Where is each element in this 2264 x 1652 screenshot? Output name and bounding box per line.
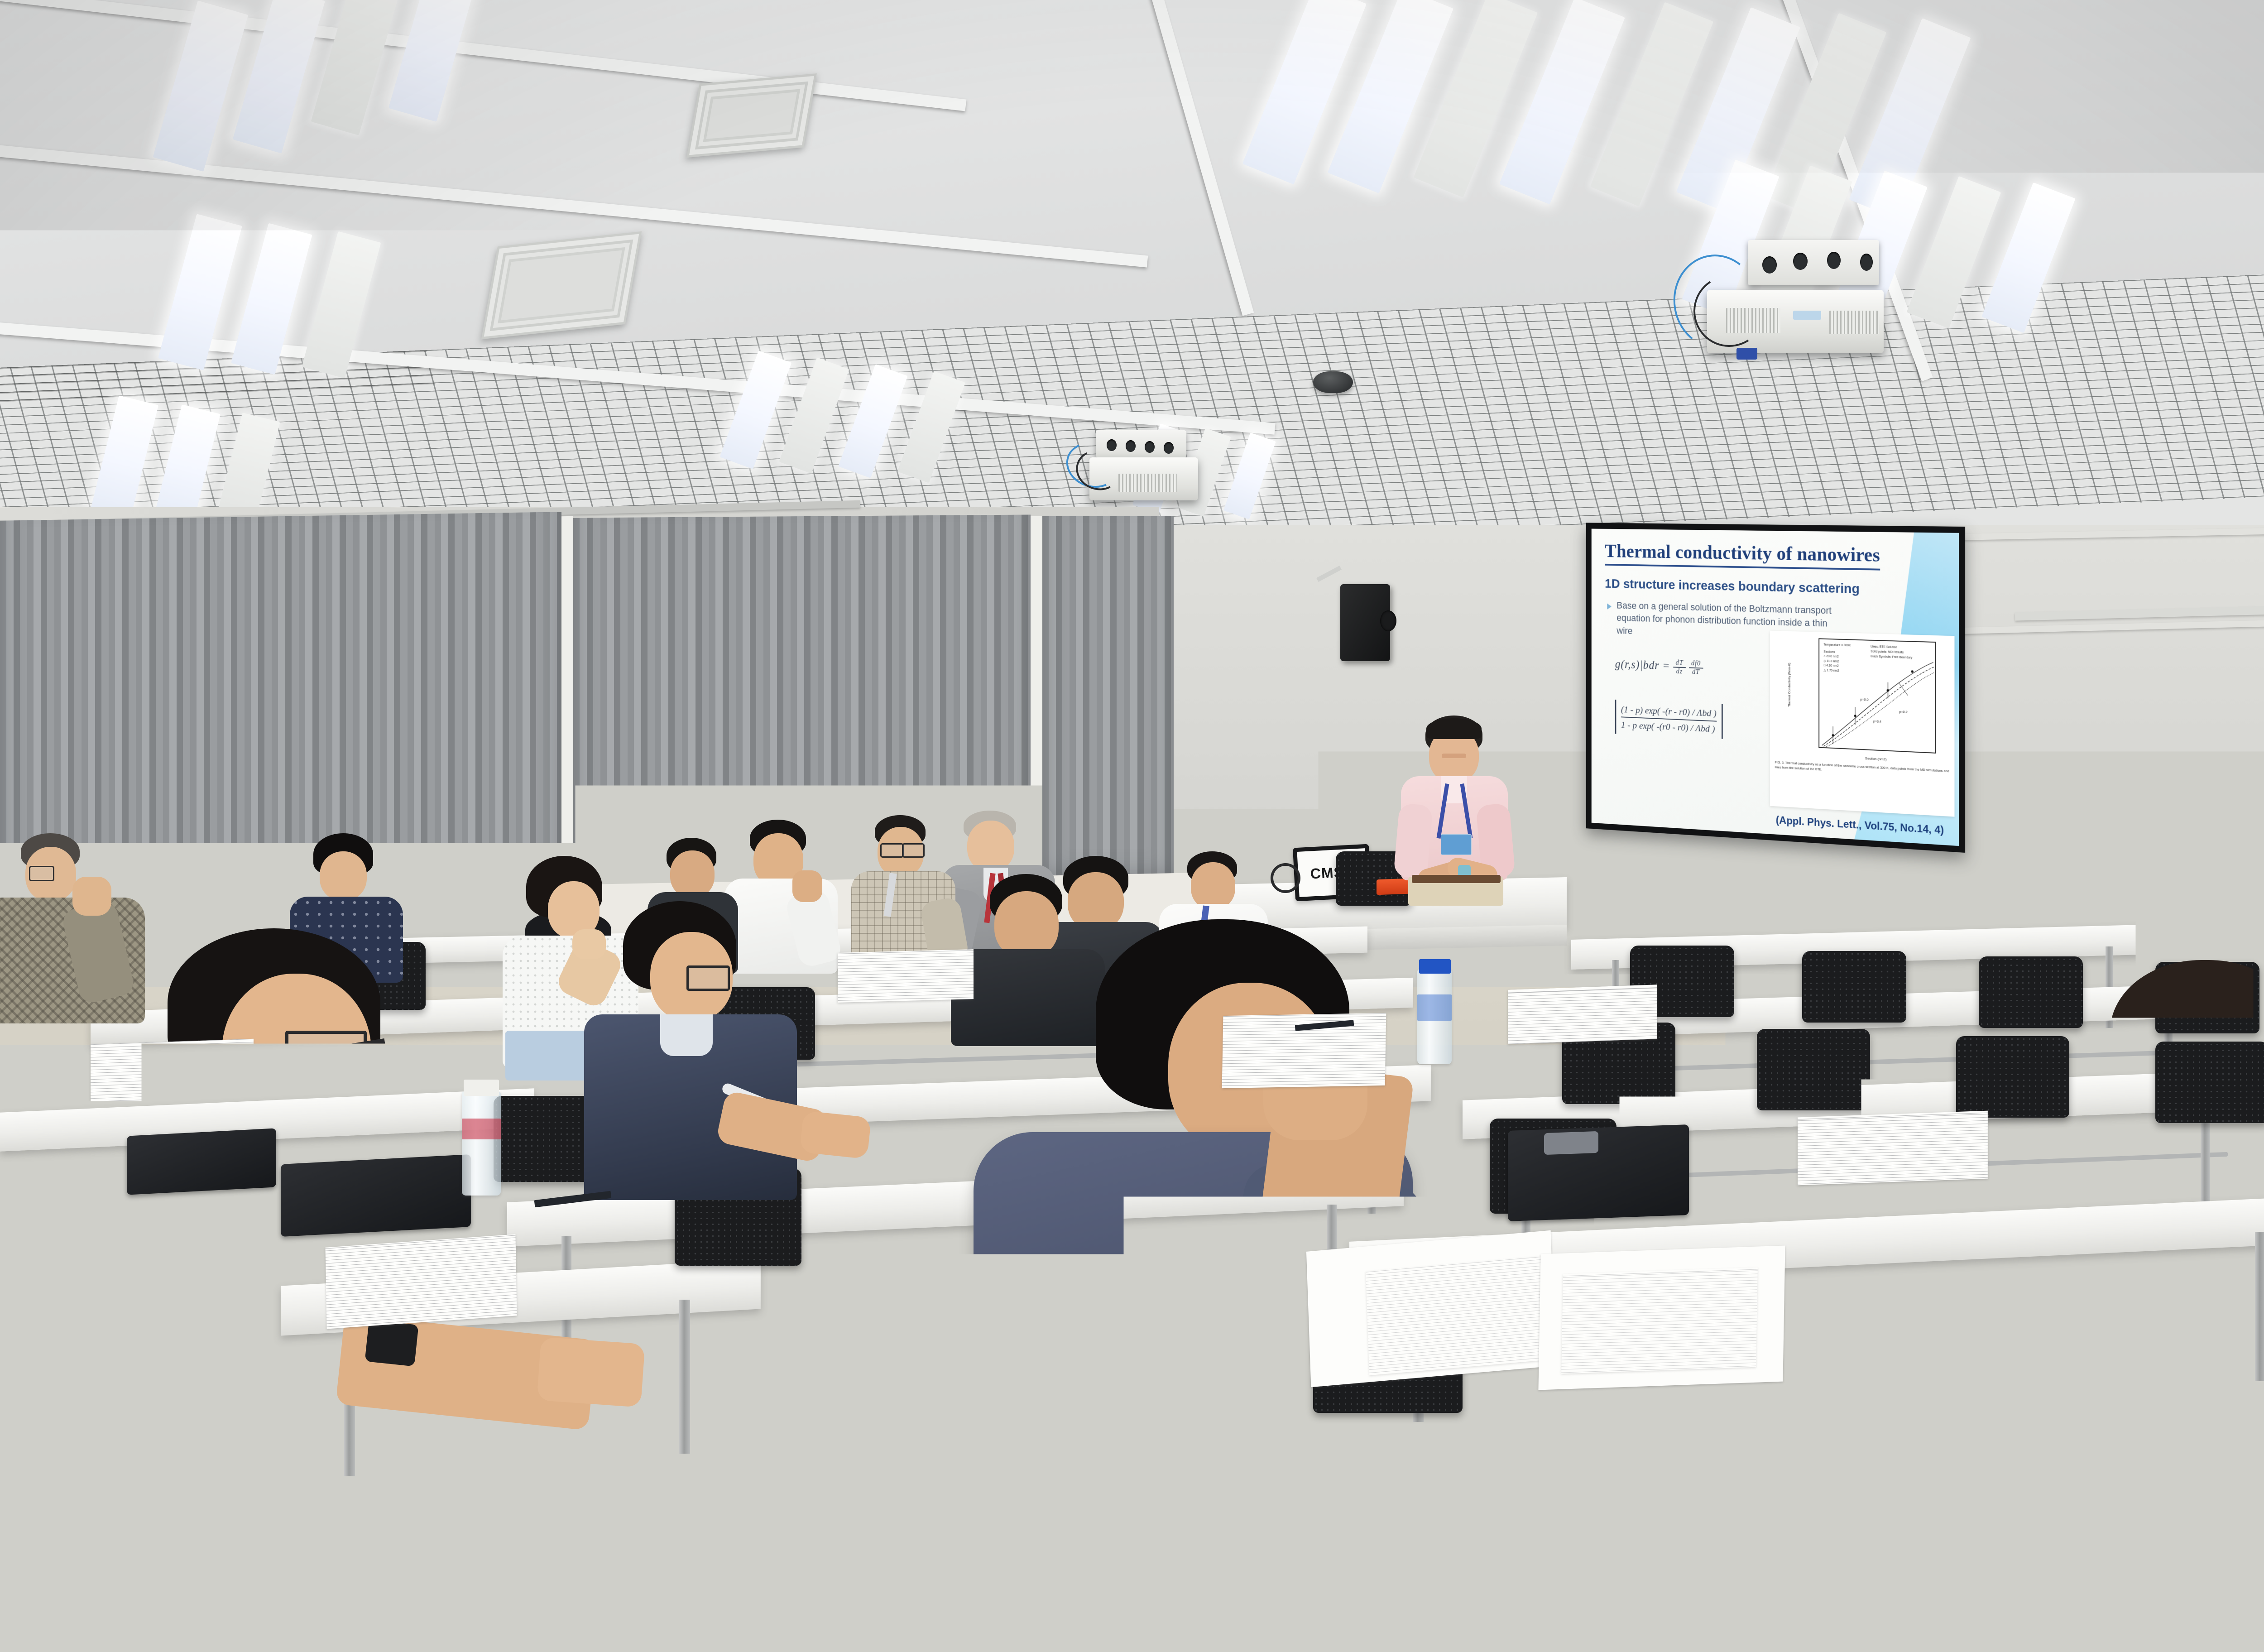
ceiling-beam <box>0 0 966 111</box>
head <box>1191 862 1235 909</box>
mount-hole-icon <box>1793 253 1808 270</box>
legend-entry: △ 1.70 nm2 <box>1823 668 1851 674</box>
projector-vent <box>1829 311 1879 334</box>
chart-legend-left: Temperature = 300K Sections ○ 20.0 nm2 ◇… <box>1823 643 1851 674</box>
smoke-detector-icon <box>1313 371 1353 393</box>
window-curtain-right[interactable] <box>1042 516 1174 892</box>
ceiling-light <box>311 0 400 135</box>
slide-equation-group: g(r,s)|bdr = dT dz df0 dT (1 - p) exp( -… <box>1615 657 1748 740</box>
laptop-bag[interactable] <box>281 1154 471 1237</box>
chart-annotation-p02: p=0.2 <box>1899 710 1907 714</box>
screen-surface: Thermal conductivity of nanowires 1D str… <box>1592 529 1959 846</box>
papers-on-desk[interactable] <box>1798 1111 1988 1186</box>
mount-hole-icon <box>1145 441 1155 453</box>
ceiling-projector-front <box>1657 226 1884 376</box>
glasses-icon <box>686 965 730 991</box>
mount-hole-icon <box>1164 442 1174 454</box>
hvac-diffuser <box>481 231 642 339</box>
ceiling-light <box>153 0 249 172</box>
chart-annotation-p04: p=0.4 <box>1873 719 1881 724</box>
booklet-text-left <box>1366 1256 1550 1375</box>
head <box>967 821 1014 871</box>
frac-numerator: df0 <box>1689 659 1703 668</box>
hand <box>537 1337 645 1407</box>
chart-line-p02 <box>1823 663 1934 751</box>
hand-on-chin <box>792 870 822 902</box>
chart-ylabel: Thermal Conductivity (W/m-K) <box>1769 631 1809 740</box>
empty-chair[interactable] <box>1757 1029 1870 1110</box>
attendee-check-tan <box>851 815 955 965</box>
papers-on-desk[interactable] <box>1508 984 1657 1044</box>
bottle-label-zero <box>1417 994 1452 1021</box>
equation-lhs: g(r,s)|bdr = <box>1615 658 1670 672</box>
water-bottle[interactable] <box>2259 1096 2264 1196</box>
papers-on-desk[interactable] <box>325 1234 517 1329</box>
hand-to-face <box>72 877 111 916</box>
attendee-navy-center <box>974 919 1463 1553</box>
vga-connector-icon <box>1736 348 1757 360</box>
frac-numerator: dT <box>1673 659 1686 668</box>
bag-flap <box>1544 1131 1598 1155</box>
wall-speaker-icon <box>1340 584 1390 661</box>
bottle-label <box>462 1119 501 1139</box>
equation-block: (1 - p) exp( -(r - r0) / Λbd ) 1 - p exp… <box>1615 700 1722 739</box>
slide-figure: Thermal Conductivity (W/m-K) <box>1770 631 1955 817</box>
presenter-badge <box>1441 834 1472 855</box>
equation-line-1: g(r,s)|bdr = dT dz df0 dT <box>1615 657 1748 678</box>
head <box>320 851 367 900</box>
presentation-slide: Thermal conductivity of nanowires 1D str… <box>1592 529 1959 846</box>
chart-md-point <box>1911 670 1914 673</box>
laptop-bag[interactable] <box>1508 1124 1689 1221</box>
head-back <box>2142 1042 2264 1177</box>
mount-hole-icon <box>1762 256 1777 274</box>
frac-denominator: dT <box>1689 668 1703 676</box>
ceiling-beam <box>1055 0 1254 316</box>
glasses-icon <box>902 843 925 858</box>
water-bottle[interactable] <box>462 1091 501 1196</box>
frac-denominator: dz <box>1673 668 1686 676</box>
booklet-text-right <box>1561 1267 1758 1373</box>
microphone-head-icon <box>1442 920 1462 934</box>
attendee-orange-blouse <box>2038 1286 2264 1652</box>
equation-fraction-2: df0 dT <box>1689 659 1703 676</box>
trousers <box>45 1485 389 1603</box>
papers-on-desk[interactable] <box>91 1039 254 1108</box>
bottle-cap <box>2261 1085 2264 1100</box>
wristwatch <box>365 1320 418 1367</box>
presenter-belt <box>1412 875 1501 883</box>
presenter <box>1390 716 1526 906</box>
presenter-arm-left <box>1393 803 1433 879</box>
bottle-cap <box>464 1080 499 1096</box>
slide-title: Thermal conductivity of nanowires <box>1605 540 1880 570</box>
slide-subtitle: 1D structure increases boundary scatteri… <box>1605 576 1946 599</box>
hand <box>800 1110 872 1159</box>
glasses-icon <box>880 843 904 858</box>
empty-chair[interactable] <box>1802 951 1906 1023</box>
ceiling-light <box>389 0 476 122</box>
presenter-hair-top <box>1426 718 1482 739</box>
chart-legend-right: Lines: BTE Solution Solid points: MD Res… <box>1871 644 1912 661</box>
legend-entry: Temperature = 300K <box>1823 643 1851 648</box>
presenter-mouth <box>1442 754 1466 758</box>
projector-label <box>1793 311 1821 320</box>
bottle-cap <box>1419 959 1451 974</box>
chart-xlabel: Section (nm2) <box>1818 754 1934 764</box>
equation-fraction-1: dT dz <box>1673 659 1686 676</box>
mount-hole-icon <box>1827 252 1841 269</box>
mount-hole-icon <box>1860 254 1873 271</box>
head <box>670 850 715 898</box>
paper <box>2062 1181 2150 1246</box>
chart-annotation-p00: p=0.0 <box>1860 697 1868 702</box>
ceiling-projector-rear <box>1069 430 1214 516</box>
lecture-hall-photo: Thermal conductivity of nanowires 1D str… <box>0 0 2264 1652</box>
polo-collar <box>660 1014 713 1056</box>
laptop-bag[interactable] <box>127 1128 276 1195</box>
projection-screen[interactable]: Thermal conductivity of nanowires 1D str… <box>1586 523 1965 853</box>
glasses-icon <box>285 1031 367 1071</box>
glasses-icon <box>29 866 54 881</box>
mount-hole-icon <box>1126 440 1136 452</box>
papers-on-desk[interactable] <box>838 949 974 1003</box>
desk-leg <box>679 1300 690 1454</box>
chart-line-p04 <box>1826 668 1935 752</box>
hvac-diffuser <box>686 73 817 158</box>
chart-plot-area: Temperature = 300K Sections ○ 20.0 nm2 ◇… <box>1818 638 1936 753</box>
projector-vent <box>1118 474 1177 492</box>
attendee-navy-polo <box>584 901 797 1200</box>
